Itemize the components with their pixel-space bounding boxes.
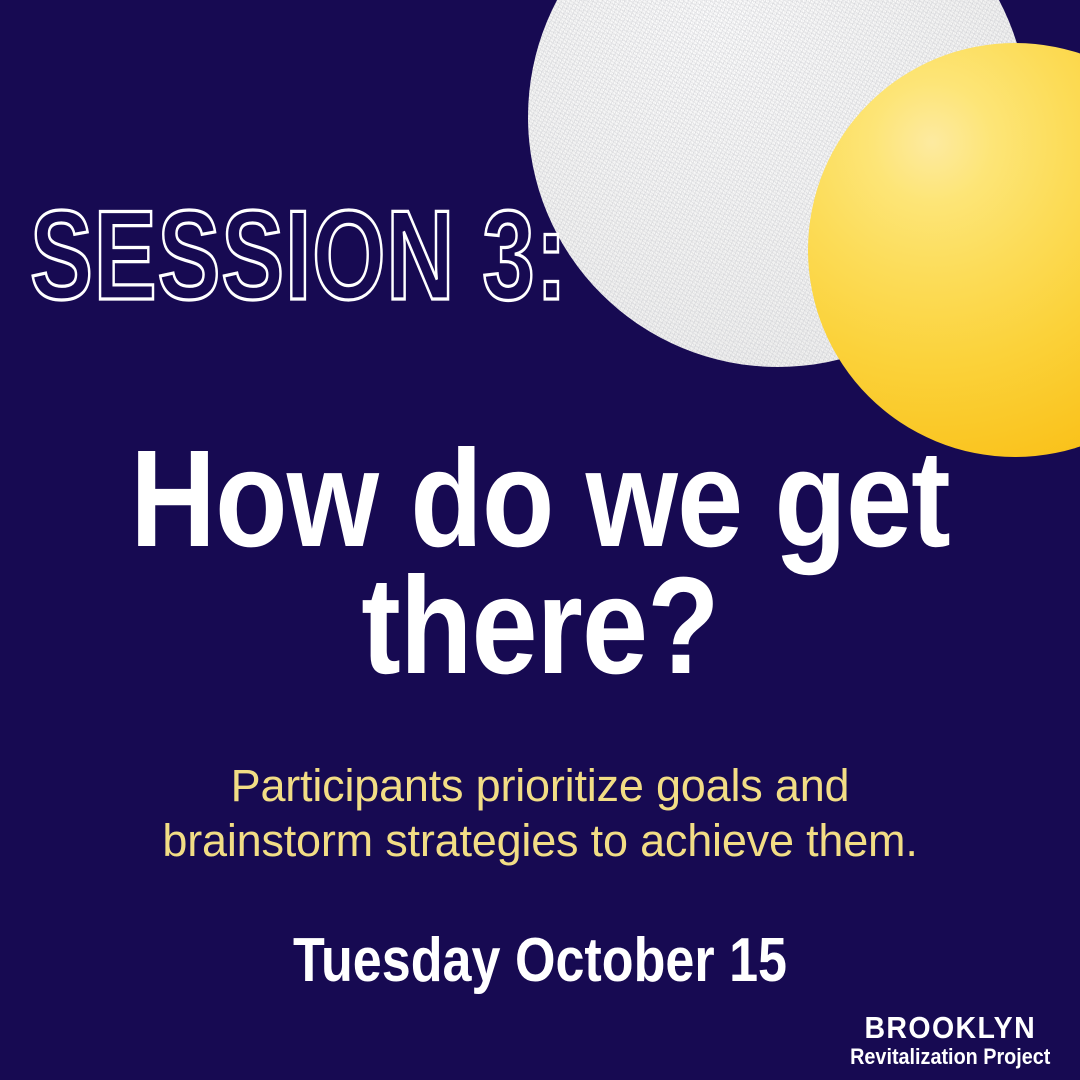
page-title: How do we get there? bbox=[0, 436, 1080, 690]
headline-line-2: there? bbox=[76, 563, 1005, 690]
brand-logo: BROOKLYN Revitalization Project bbox=[839, 1012, 1062, 1068]
session-description: Participants prioritize goals and brains… bbox=[0, 759, 1080, 869]
headline-line-1: How do we get bbox=[76, 436, 1005, 563]
subtitle-line-2: brainstorm strategies to achieve them. bbox=[0, 814, 1080, 869]
subtitle-line-1: Participants prioritize goals and bbox=[0, 759, 1080, 814]
logo-secondary-text: Revitalization Project bbox=[851, 1045, 1051, 1068]
poster-content: SESSION 3: How do we get there? Particip… bbox=[0, 0, 1080, 1080]
event-date-text: Tuesday October 15 bbox=[293, 930, 787, 992]
event-date: Tuesday October 15 bbox=[0, 930, 1080, 992]
logo-primary-text: BROOKLYN bbox=[848, 1012, 1053, 1043]
session-label: SESSION 3: bbox=[30, 192, 568, 319]
social-post-canvas: SESSION 3: How do we get there? Particip… bbox=[0, 0, 1080, 1080]
